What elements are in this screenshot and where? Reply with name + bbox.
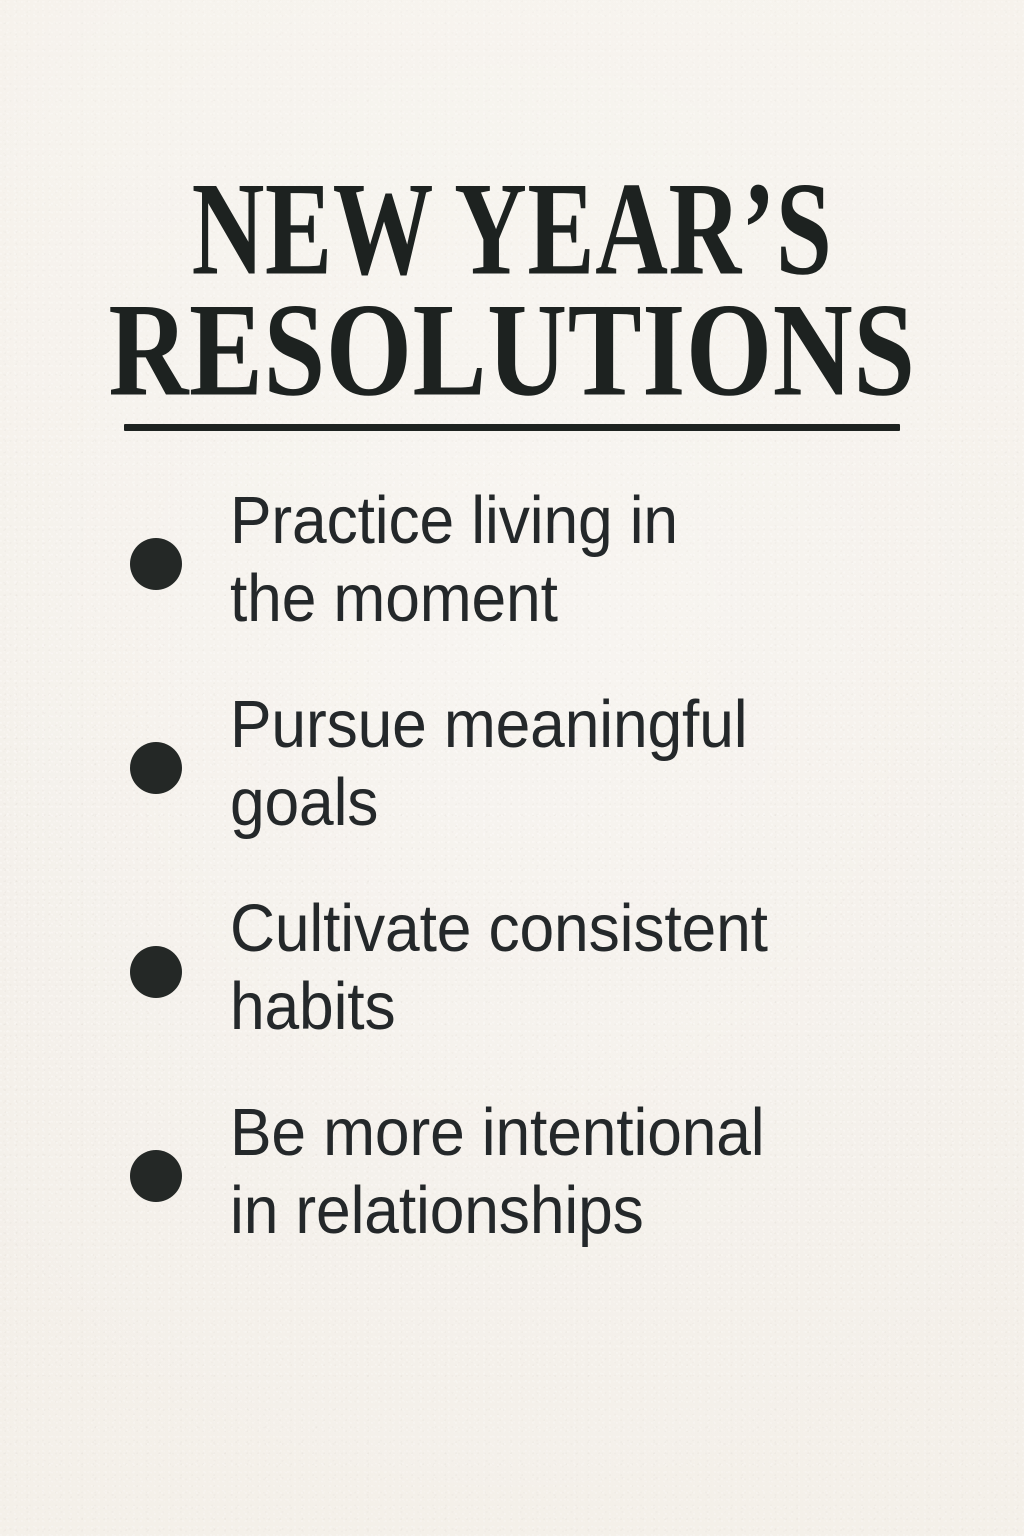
list-item: Be more intentional in relationships: [0, 1094, 1024, 1250]
resolution-text: Be more intentional in relationships: [230, 1094, 931, 1250]
poster-content: NEW YEAR’S RESOLUTIONS Practice living i…: [0, 0, 1024, 1536]
list-item: Cultivate consistent habits: [0, 890, 1024, 1046]
resolution-text: Cultivate consistent habits: [230, 890, 931, 1046]
filled-circle-bullet-icon: [130, 742, 182, 794]
resolution-text: Practice living in the moment: [230, 482, 931, 638]
page-title-line-1: NEW YEAR’S: [102, 168, 921, 293]
filled-circle-bullet-icon: [130, 1150, 182, 1202]
filled-circle-bullet-icon: [130, 946, 182, 998]
new-years-resolutions-poster: NEW YEAR’S RESOLUTIONS Practice living i…: [0, 0, 1024, 1536]
page-title-line-2: RESOLUTIONS: [61, 286, 962, 417]
page-title: NEW YEAR’S RESOLUTIONS: [0, 171, 1024, 413]
list-item: Practice living in the moment: [0, 482, 1024, 638]
resolution-text: Pursue meaningful goals: [230, 686, 931, 842]
list-item: Pursue meaningful goals: [0, 686, 1024, 842]
filled-circle-bullet-icon: [130, 538, 182, 590]
heading-divider-rule: [124, 424, 900, 431]
resolutions-list: Practice living in the moment Pursue mea…: [0, 482, 1024, 1250]
